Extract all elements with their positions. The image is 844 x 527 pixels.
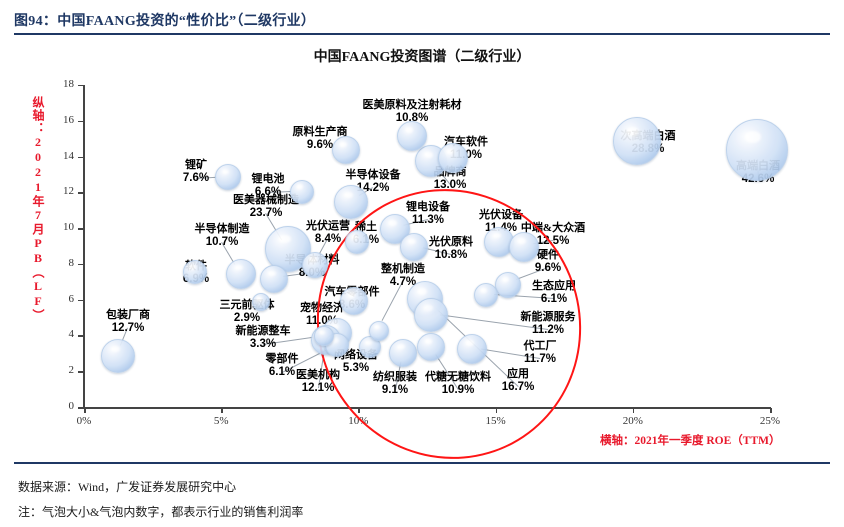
y-tick-label: 6	[48, 294, 74, 305]
y-tick-label: 12	[48, 186, 74, 197]
x-tick-label: 0%	[62, 416, 106, 427]
bubble	[726, 119, 788, 181]
y-tick	[78, 407, 83, 409]
figure-caption: 图94：中国FAANG投资的“性价比”（二级行业）	[14, 10, 315, 30]
y-tick-label: 0	[48, 401, 74, 412]
x-tick	[84, 408, 86, 413]
y-tick	[78, 85, 83, 87]
footer-rule	[14, 462, 830, 464]
bubble	[345, 230, 369, 254]
bubble	[509, 232, 539, 262]
bubble	[290, 180, 314, 204]
bubble	[369, 321, 389, 341]
header-rule	[14, 33, 830, 35]
bubble	[101, 339, 135, 373]
data-label-name: 原料生产商	[260, 127, 380, 139]
bubble	[226, 259, 256, 289]
bubble	[414, 298, 448, 332]
leader-line	[263, 337, 313, 345]
bubble	[252, 293, 270, 311]
data-label: 原料生产商9.6%	[260, 127, 380, 151]
leader-line	[268, 191, 291, 193]
data-label: 包装厂商12.7%	[68, 310, 188, 334]
bubble	[474, 283, 498, 307]
y-tick	[78, 300, 83, 302]
data-label: 半导体设备14.2%	[313, 170, 433, 194]
x-tick	[770, 408, 772, 413]
bubble	[613, 117, 661, 165]
data-label-name: 包装厂商	[68, 310, 188, 322]
data-label-value: 9.6%	[260, 139, 380, 151]
data-label-name: 新能源整车	[203, 326, 323, 338]
bubble	[340, 287, 368, 315]
y-axis-caption: 纵轴：2021年7月PB（LF）	[14, 96, 44, 322]
bubble	[215, 164, 241, 190]
y-tick	[78, 371, 83, 373]
x-tick	[221, 408, 223, 413]
bubble	[183, 260, 207, 284]
x-tick-label: 5%	[199, 416, 243, 427]
x-tick-label: 20%	[611, 416, 655, 427]
y-tick	[78, 121, 83, 123]
y-tick-label: 18	[48, 79, 74, 90]
x-axis-caption: 横轴：2021年一季度 ROE（TTM）	[600, 432, 781, 448]
bubble	[417, 333, 445, 361]
source-note: 数据来源：Wind，广发证券发展研究中心	[18, 478, 236, 495]
x-tick-label: 25%	[748, 416, 792, 427]
bubble	[332, 136, 360, 164]
data-label-value: 2.9%	[187, 312, 307, 324]
y-tick	[78, 157, 83, 159]
bubble	[389, 339, 417, 367]
y-axis-line	[83, 85, 85, 408]
bubble	[495, 272, 521, 298]
data-label-name: 三元前驱体	[187, 300, 307, 312]
y-tick-label: 4	[48, 329, 74, 340]
method-note: 注：气泡大小&气泡内数字，都表示行业的销售利润率	[18, 503, 303, 520]
y-tick-label: 2	[48, 365, 74, 376]
bubble	[260, 265, 288, 293]
bubble	[397, 121, 427, 151]
y-tick-label: 8	[48, 258, 74, 269]
data-label-name: 医美原料及注射耗材	[352, 100, 472, 112]
bubble	[438, 143, 468, 173]
y-tick-label: 10	[48, 222, 74, 233]
leader-line	[196, 177, 217, 179]
data-label-name: 半导体制造	[162, 224, 282, 236]
chart-title: 中国FAANG投资图谱（二级行业）	[0, 46, 844, 66]
data-label-name: 半导体设备	[313, 170, 433, 182]
data-label: 三元前驱体2.9%	[187, 300, 307, 324]
x-tick	[633, 408, 635, 413]
y-tick-label: 14	[48, 151, 74, 162]
bubble	[457, 334, 487, 364]
bubble	[334, 185, 368, 219]
y-tick	[78, 264, 83, 266]
y-tick	[78, 192, 83, 194]
y-tick-label: 16	[48, 115, 74, 126]
y-tick	[78, 335, 83, 337]
y-tick	[78, 228, 83, 230]
